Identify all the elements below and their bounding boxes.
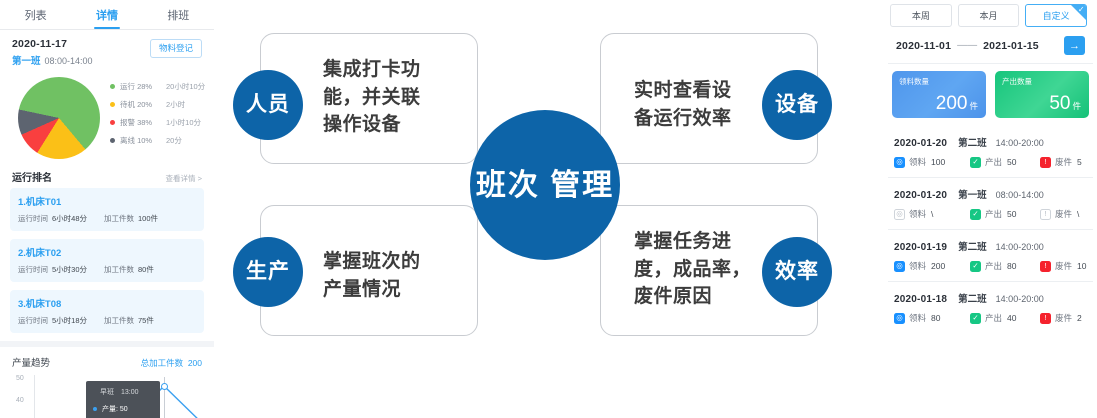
- record-date: 2020-01-18: [894, 294, 947, 305]
- material-register-button[interactable]: 物料登记: [150, 39, 202, 58]
- diagram-card-equipment-text: 实时查看设 备运行效率: [634, 77, 732, 132]
- record-shift: 第二班: [958, 239, 987, 253]
- metric-value: 2: [1077, 313, 1082, 323]
- metric-value: 50: [1007, 209, 1016, 219]
- legend-duration: 1小时10分: [166, 117, 201, 128]
- tooltip-title: 早班13:00: [93, 387, 153, 397]
- trend-header: 产量趋势 总加工件数 200: [0, 347, 214, 373]
- record-shift: 第二班: [958, 135, 987, 149]
- exclamation-icon: !: [1040, 313, 1051, 324]
- shift-time: 08:00-14:00: [45, 56, 93, 66]
- legend-duration: 2小时: [166, 99, 185, 110]
- runtime-label: 运行时间: [18, 214, 48, 223]
- check-icon: ✓: [970, 209, 981, 220]
- metric-value: 5: [1077, 157, 1082, 167]
- ranking-title: 运行排名: [12, 169, 52, 184]
- metric-value: 40: [1007, 313, 1016, 323]
- stat-card-picked: 领料数量 200件: [892, 71, 986, 118]
- runtime-label: 运行时间: [18, 316, 48, 325]
- tooltip-series: 产量: 50: [93, 404, 153, 414]
- record-time: 14:00-20:00: [996, 242, 1044, 252]
- record-header: 2020-01-20 第一班 08:00-14:00: [894, 187, 1087, 201]
- exclamation-icon: !: [1040, 209, 1051, 220]
- arrow-right-icon[interactable]: →: [1064, 36, 1085, 55]
- range-button-group: 本周 本月 自定义 ✓: [884, 0, 1097, 27]
- record-time: 08:00-14:00: [996, 190, 1044, 200]
- parts-value: 100件: [138, 214, 158, 223]
- parts-label: 加工件数: [104, 265, 134, 274]
- ranking-header: 运行排名 查看详情 >: [0, 163, 214, 188]
- metric-scrap: !废件5: [1040, 156, 1082, 168]
- diagram-card-personnel-text: 集成打卡功 能，并关联 操作设备: [323, 56, 421, 139]
- shift-header: 2020-11-17 第一班08:00-14:00 物料登记: [0, 30, 214, 71]
- date-separator: ——: [957, 40, 977, 51]
- metric-scrap: !废件\: [1040, 208, 1079, 220]
- date-end[interactable]: 2021-01-15: [983, 40, 1039, 52]
- legend-item: 待机 20% 2小时: [110, 99, 205, 110]
- record-shift: 第二班: [958, 291, 987, 305]
- diagram-bubble-production: 生产: [233, 237, 303, 307]
- pie-legend: 运行 28% 20小时10分 待机 20% 2小时 报警 38% 1小时10分 …: [110, 81, 205, 153]
- machine-name: 1.机床T01: [18, 194, 196, 208]
- stat-card-label: 领料数量: [899, 76, 979, 87]
- pie-graphic: [18, 77, 100, 159]
- record-header: 2020-01-19 第二班 14:00-20:00: [894, 239, 1087, 253]
- legend-duration: 20分: [166, 135, 182, 146]
- tab-detail[interactable]: 详情: [71, 7, 142, 29]
- diagram-bubble-personnel: 人员: [233, 70, 303, 140]
- list-item[interactable]: 2.机床T02 运行时间5小时30分 加工件数80件: [10, 239, 204, 282]
- check-icon: ✓: [970, 157, 981, 168]
- list-item[interactable]: 1.机床T01 运行时间6小时48分 加工件数100件: [10, 188, 204, 231]
- legend-dot-icon: [110, 84, 115, 89]
- stat-cards: 领料数量 200件 产出数量 50件: [884, 64, 1097, 126]
- check-icon: ✓: [1078, 6, 1085, 14]
- metric-value: 200: [931, 261, 945, 271]
- range-button-month[interactable]: 本月: [958, 4, 1020, 27]
- record-metrics: ◎领料100 ✓产出50 !废件5: [894, 156, 1087, 168]
- stat-card-label: 产出数量: [1002, 76, 1082, 87]
- legend-item: 报警 38% 1小时10分: [110, 117, 205, 128]
- target-icon: ◎: [894, 313, 905, 324]
- parts-value: 80件: [138, 265, 154, 274]
- table-row[interactable]: 2020-01-19 第二班 14:00-20:00 ◎领料200 ✓产出80 …: [888, 230, 1093, 282]
- metric-value: 80: [931, 313, 940, 323]
- legend-dot-icon: [110, 138, 115, 143]
- metric-output: ✓产出40: [970, 312, 1040, 324]
- record-list: 2020-01-20 第二班 14:00-20:00 ◎领料100 ✓产出50 …: [884, 126, 1097, 333]
- diagram-bubble-center: 班次 管理: [470, 110, 620, 260]
- list-item[interactable]: 3.机床T08 运行时间5小时18分 加工件数75件: [10, 290, 204, 333]
- machine-stats: 运行时间5小时18分 加工件数75件: [18, 315, 196, 326]
- tooltip-dot-icon: [93, 407, 97, 411]
- legend-name: 待机 20%: [120, 99, 166, 110]
- shift-management-diagram: 集成打卡功 能，并关联 操作设备 人员 实时查看设 备运行效率 设备 掌握班次的…: [230, 0, 880, 418]
- exclamation-icon: !: [1040, 261, 1051, 272]
- target-icon: ◎: [894, 261, 905, 272]
- legend-name: 报警 38%: [120, 117, 166, 128]
- material-summary-panel: 本周 本月 自定义 ✓ 2020-11-01 —— 2021-01-15 → 领…: [884, 0, 1097, 418]
- legend-dot-icon: [110, 120, 115, 125]
- trend-total: 总加工件数 200: [141, 357, 202, 369]
- metric-value: \: [1077, 209, 1079, 219]
- production-trend-chart: 50 40 早班13:00 产量: 50: [8, 373, 206, 418]
- machine-name: 3.机床T08: [18, 296, 196, 310]
- record-metrics: ◎领料80 ✓产出40 !废件2: [894, 312, 1087, 324]
- diagram-card-efficiency-text: 掌握任务进 度，成品率， 废件原因: [634, 228, 751, 311]
- record-metrics: ◎领料\ ✓产出50 !废件\: [894, 208, 1087, 220]
- metric-scrap: !废件2: [1040, 312, 1082, 324]
- metric-value: 100: [931, 157, 945, 167]
- record-date: 2020-01-20: [894, 138, 947, 149]
- record-date: 2020-01-20: [894, 190, 947, 201]
- stat-card-value: 50件: [1049, 93, 1081, 115]
- target-icon: ◎: [894, 157, 905, 168]
- legend-name: 运行 28%: [120, 81, 166, 92]
- range-button-custom[interactable]: 自定义 ✓: [1025, 4, 1087, 27]
- parts-value: 75件: [138, 316, 154, 325]
- tab-list[interactable]: 列表: [0, 7, 71, 29]
- diagram-card-production-text: 掌握班次的 产量情况: [323, 248, 421, 303]
- check-icon: ✓: [970, 313, 981, 324]
- range-button-custom-label: 自定义: [1043, 9, 1070, 22]
- range-button-week[interactable]: 本周: [890, 4, 952, 27]
- table-row[interactable]: 2020-01-20 第二班 14:00-20:00 ◎领料100 ✓产出50 …: [888, 126, 1093, 178]
- metric-value: \: [931, 209, 933, 219]
- runtime-value: 6小时48分: [52, 214, 87, 223]
- legend-dot-icon: [110, 102, 115, 107]
- record-date: 2020-01-19: [894, 242, 947, 253]
- record-header: 2020-01-20 第二班 14:00-20:00: [894, 135, 1087, 149]
- metric-picked: ◎领料100: [894, 156, 970, 168]
- machine-stats: 运行时间5小时30分 加工件数80件: [18, 264, 196, 275]
- tab-bar: 列表 详情 排班: [0, 0, 214, 30]
- diagram-bubble-efficiency: 效率: [762, 237, 832, 307]
- stat-card-output: 产出数量 50件: [995, 71, 1089, 118]
- legend-item: 离线 10% 20分: [110, 135, 205, 146]
- record-header: 2020-01-18 第二班 14:00-20:00: [894, 291, 1087, 305]
- table-row[interactable]: 2020-01-20 第一班 08:00-14:00 ◎领料\ ✓产出50 !废…: [888, 178, 1093, 230]
- shift-name: 第一班: [12, 56, 41, 67]
- stat-card-value: 200件: [936, 93, 978, 115]
- diagram-bubble-equipment: 设备: [762, 70, 832, 140]
- metric-output: ✓产出50: [970, 208, 1040, 220]
- metric-scrap: !废件10: [1040, 260, 1086, 272]
- shift-detail-panel: 列表 详情 排班 2020-11-17 第一班08:00-14:00 物料登记 …: [0, 0, 214, 418]
- parts-label: 加工件数: [104, 214, 134, 223]
- parts-label: 加工件数: [104, 316, 134, 325]
- date-range-row[interactable]: 2020-11-01 —— 2021-01-15 →: [888, 27, 1093, 64]
- screenshot-root: 列表 详情 排班 2020-11-17 第一班08:00-14:00 物料登记 …: [0, 0, 1097, 418]
- metric-picked: ◎领料80: [894, 312, 970, 324]
- status-pie-chart: 运行 28% 20小时10分 待机 20% 2小时 报警 38% 1小时10分 …: [0, 75, 214, 163]
- table-row[interactable]: 2020-01-18 第二班 14:00-20:00 ◎领料80 ✓产出40 !…: [888, 282, 1093, 333]
- ranking-more-link[interactable]: 查看详情 >: [166, 173, 202, 184]
- metric-picked: ◎领料\: [894, 208, 970, 220]
- date-start[interactable]: 2020-11-01: [896, 40, 951, 52]
- metric-picked: ◎领料200: [894, 260, 970, 272]
- metric-output: ✓产出80: [970, 260, 1040, 272]
- runtime-value: 5小时18分: [52, 316, 87, 325]
- record-metrics: ◎领料200 ✓产出80 !废件10: [894, 260, 1087, 272]
- check-icon: ✓: [970, 261, 981, 272]
- metric-value: 10: [1077, 261, 1086, 271]
- metric-value: 80: [1007, 261, 1016, 271]
- exclamation-icon: !: [1040, 157, 1051, 168]
- runtime-value: 5小时30分: [52, 265, 87, 274]
- trend-title: 产量趋势: [12, 355, 50, 369]
- metric-value: 50: [1007, 157, 1016, 167]
- target-icon: ◎: [894, 209, 905, 220]
- trend-data-point: [161, 383, 168, 390]
- record-shift: 第一班: [958, 187, 987, 201]
- legend-item: 运行 28% 20小时10分: [110, 81, 205, 92]
- record-time: 14:00-20:00: [996, 294, 1044, 304]
- runtime-label: 运行时间: [18, 265, 48, 274]
- record-time: 14:00-20:00: [996, 138, 1044, 148]
- machine-name: 2.机床T02: [18, 245, 196, 259]
- machine-stats: 运行时间6小时48分 加工件数100件: [18, 213, 196, 224]
- trend-tooltip: 早班13:00 产量: 50: [86, 381, 160, 418]
- tab-schedule[interactable]: 排班: [143, 7, 214, 29]
- metric-output: ✓产出50: [970, 156, 1040, 168]
- legend-duration: 20小时10分: [166, 81, 205, 92]
- legend-name: 离线 10%: [120, 135, 166, 146]
